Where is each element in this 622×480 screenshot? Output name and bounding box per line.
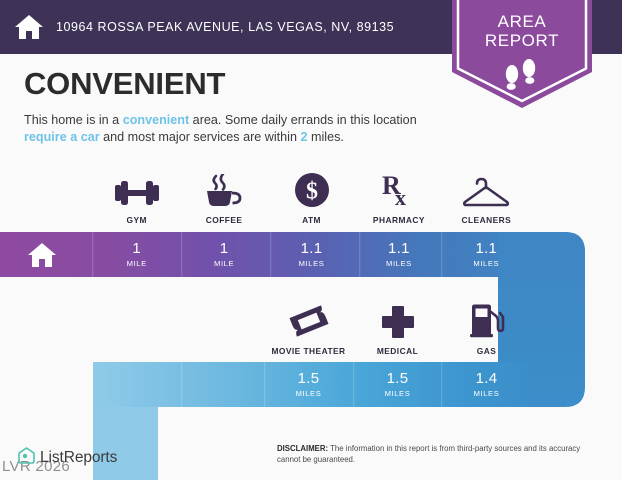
distance-unit: MILES xyxy=(474,389,500,398)
desc-part-4: miles. xyxy=(308,130,344,144)
amenity-medical: MEDICAL xyxy=(353,297,442,356)
dollar-coin-icon: $ xyxy=(294,166,330,208)
distance-unit: MILES xyxy=(385,389,411,398)
desc-part-2: area. Some daily errands in this locatio… xyxy=(189,113,417,127)
area-report-page: 10964 ROSSA PEAK AVENUE, LAS VEGAS, NV, … xyxy=(0,0,622,480)
distance-value: 1.1 xyxy=(475,241,497,256)
distance-gym: 1 MILE xyxy=(93,232,180,276)
distance-unit: MILES xyxy=(296,389,322,398)
desc-part-3: and most major services are within xyxy=(100,130,301,144)
distance-unit: MILES xyxy=(299,259,325,268)
distance-unit: MILES xyxy=(473,259,499,268)
distance-values-row-1: 1 MILE 1 MILE 1.1 MILES 1.1 MILES 1.1 MI… xyxy=(93,232,530,276)
hanger-icon xyxy=(463,166,509,208)
distance-gas: 1.4 MILES xyxy=(442,362,531,406)
amenity-label: MEDICAL xyxy=(377,346,418,356)
amenity-cleaners: CLEANERS xyxy=(443,166,530,225)
amenity-label: GAS xyxy=(477,346,497,356)
distance-unit: MILES xyxy=(386,259,412,268)
amenity-label: PHARMACY xyxy=(373,215,425,225)
distance-value: 1.5 xyxy=(298,371,320,386)
coffee-cup-icon xyxy=(204,166,244,208)
distance-value: 1 xyxy=(220,241,229,256)
distance-unit: MILE xyxy=(127,259,147,268)
property-address: 10964 ROSSA PEAK AVENUE, LAS VEGAS, NV, … xyxy=(56,20,394,34)
home-icon xyxy=(14,14,44,41)
track-corner-left xyxy=(93,362,180,407)
distance-value: 1 xyxy=(132,241,141,256)
amenity-pharmacy: R x PHARMACY xyxy=(355,166,442,225)
dumbbell-icon xyxy=(115,166,159,208)
gas-pump-icon xyxy=(469,297,505,339)
svg-text:$: $ xyxy=(306,179,318,205)
amenity-label: GYM xyxy=(126,215,146,225)
desc-highlight-miles: 2 xyxy=(300,130,307,144)
amenity-atm: $ ATM xyxy=(268,166,355,225)
medical-cross-icon xyxy=(381,297,415,339)
rx-icon: R x xyxy=(381,166,417,208)
distance-value: 1.4 xyxy=(476,371,498,386)
distance-unit: MILE xyxy=(214,259,234,268)
svg-text:x: x xyxy=(395,185,406,208)
amenity-label: COFFEE xyxy=(206,215,243,225)
listreports-logo[interactable]: ListReports xyxy=(18,447,117,469)
distance-medical: 1.5 MILES xyxy=(353,362,442,406)
distance-value: 1.5 xyxy=(387,371,409,386)
disclaimer-label: DISCLAIMER: xyxy=(277,444,328,453)
movie-ticket-icon xyxy=(289,297,329,339)
track-home-icon xyxy=(18,240,66,270)
distance-value: 1.1 xyxy=(388,241,410,256)
description-text: This home is in a convenient area. Some … xyxy=(24,112,444,145)
distance-movie-theater: 1.5 MILES xyxy=(264,362,353,406)
desc-highlight-require-a-car: require a car xyxy=(24,130,100,144)
amenity-movie-theater: MOVIE THEATER xyxy=(264,297,353,356)
amenity-label: CLEANERS xyxy=(461,215,511,225)
desc-part-1: This home is in a xyxy=(24,113,123,127)
amenity-icons-row-1: GYM COFFEE $ ATM xyxy=(93,166,530,225)
amenity-gym: GYM xyxy=(93,166,180,225)
distance-values-row-2: 1.5 MILES 1.5 MILES 1.4 MILES xyxy=(264,362,531,406)
amenity-label: MOVIE THEATER xyxy=(271,346,345,356)
amenity-label: ATM xyxy=(302,215,321,225)
distance-atm: 1.1 MILES xyxy=(268,232,355,276)
amenity-gas: GAS xyxy=(442,297,531,356)
desc-highlight-convenient: convenient xyxy=(123,113,189,127)
distance-cleaners: 1.1 MILES xyxy=(443,232,530,276)
listreports-house-icon xyxy=(18,447,35,469)
page-title: CONVENIENT xyxy=(24,66,225,102)
distance-coffee: 1 MILE xyxy=(180,232,267,276)
distance-value: 1.1 xyxy=(301,241,323,256)
distance-pharmacy: 1.1 MILES xyxy=(355,232,442,276)
disclaimer: DISCLAIMER: The information in this repo… xyxy=(277,444,597,465)
amenity-icons-row-2: MOVIE THEATER MEDICAL GAS xyxy=(264,297,531,356)
area-report-badge: AREA REPORT xyxy=(452,0,592,108)
amenity-coffee: COFFEE xyxy=(180,166,267,225)
listreports-logo-text: ListReports xyxy=(40,449,117,467)
